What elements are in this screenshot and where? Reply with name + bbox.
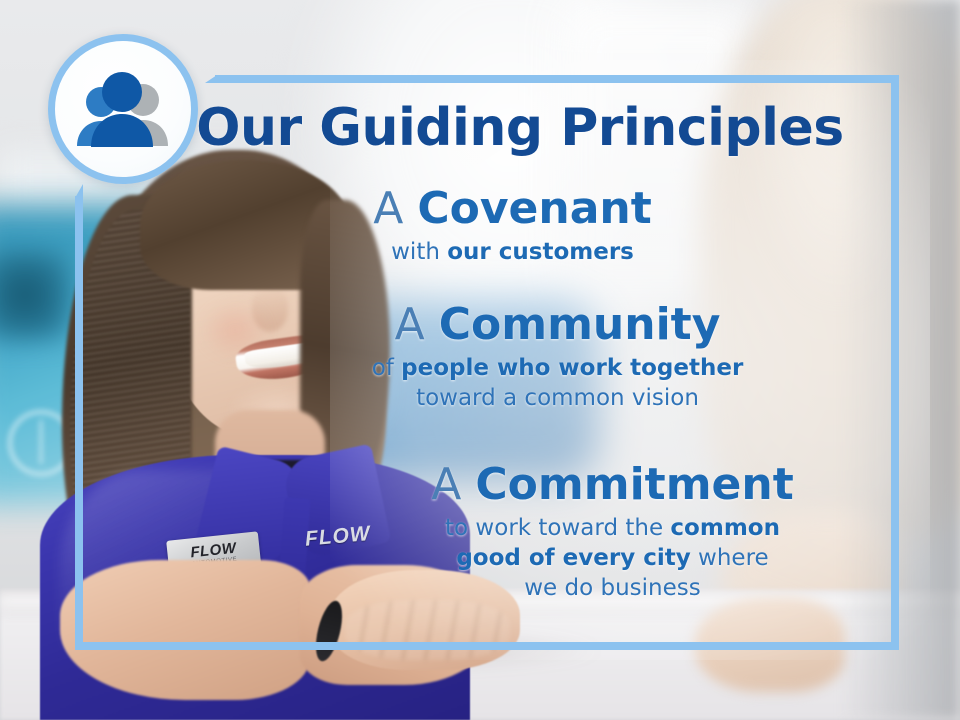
- principle-keyword: Covenant: [417, 183, 651, 234]
- principle-article: A: [373, 183, 403, 234]
- guiding-principles-banner: FLOW AUTOMOTIVE FLOW Our Guiding Princip…: [0, 0, 960, 720]
- principle-block-commitment: A Commitment to work toward the common g…: [0, 462, 960, 603]
- principle-block-community: A Community of people who work together …: [0, 302, 960, 414]
- page-title: Our Guiding Principles: [0, 98, 960, 158]
- principle-subtext-plain: to work toward the: [445, 515, 670, 541]
- principle-heading-commitment: A Commitment: [0, 462, 960, 508]
- principle-subtext-covenant: with our customers: [0, 238, 960, 268]
- principle-block-covenant: A Covenant with our customers: [0, 186, 960, 268]
- principle-subtext-line2-bold: good of every city: [456, 545, 690, 571]
- principle-subtext-community: of people who work together toward a com…: [0, 354, 960, 414]
- frame-border-top: [215, 75, 899, 83]
- principle-heading-community: A Community: [0, 302, 960, 348]
- principle-subtext-bold: common: [670, 515, 780, 541]
- principle-article: A: [431, 459, 461, 510]
- principle-keyword: Commitment: [475, 459, 793, 510]
- principle-subtext-commitment: to work toward the common good of every …: [0, 514, 960, 604]
- subject-fingers: [345, 600, 510, 660]
- principle-subtext-bold: people who work together: [401, 355, 743, 381]
- principle-subtext-line2: toward a common vision: [416, 385, 699, 411]
- principle-subtext-bold: our customers: [447, 239, 634, 265]
- frame-border-bottom: [75, 642, 899, 650]
- principle-subtext-plain: with: [391, 239, 447, 265]
- principle-subtext-line2-tail: where: [691, 545, 769, 571]
- principle-article: A: [395, 299, 425, 350]
- principle-subtext-plain: of: [372, 355, 401, 381]
- principle-heading-covenant: A Covenant: [0, 186, 960, 232]
- principle-keyword: Community: [439, 299, 721, 350]
- principle-subtext-line3: we do business: [524, 575, 701, 601]
